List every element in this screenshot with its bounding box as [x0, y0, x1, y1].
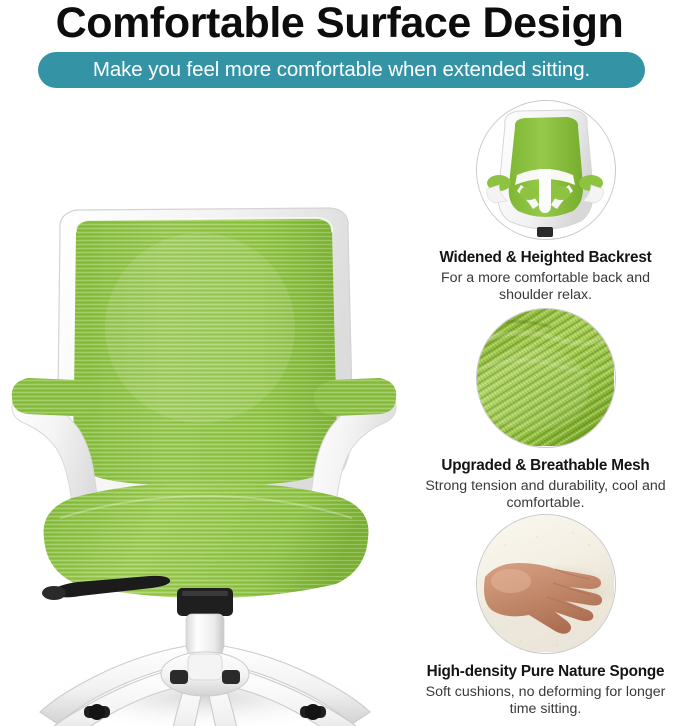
- subtitle-text: Make you feel more comfortable when exte…: [93, 58, 590, 82]
- page-title: Comfortable Surface Design: [0, 0, 679, 48]
- product-feature-page: Comfortable Surface Design Make you feel…: [0, 0, 679, 726]
- feature-heading: Upgraded & Breathable Mesh: [412, 457, 679, 475]
- sponge-hand-press-photo: [476, 514, 616, 654]
- feature-item-mesh: Upgraded & Breathable Mesh Strong tensio…: [412, 308, 679, 512]
- feature-subtext: Strong tension and durability, cool and …: [412, 478, 679, 512]
- feature-item-sponge: High-density Pure Nature Sponge Soft cus…: [412, 514, 679, 718]
- backrest-closeup-photo: [476, 100, 616, 240]
- feature-heading: High-density Pure Nature Sponge: [412, 663, 679, 681]
- feature-heading: Widened & Heighted Backrest: [412, 249, 679, 267]
- mesh-fabric-closeup-photo: [476, 308, 616, 448]
- main-chair-photo: [0, 98, 420, 726]
- feature-subtext: For a more comfortable back and shoulder…: [412, 270, 679, 304]
- feature-subtext: Soft cushions, no deforming for longer t…: [412, 684, 679, 718]
- feature-item-backrest: Widened & Heighted Backrest For a more c…: [412, 100, 679, 304]
- subtitle-banner: Make you feel more comfortable when exte…: [38, 52, 645, 88]
- feature-list: Widened & Heighted Backrest For a more c…: [412, 100, 679, 726]
